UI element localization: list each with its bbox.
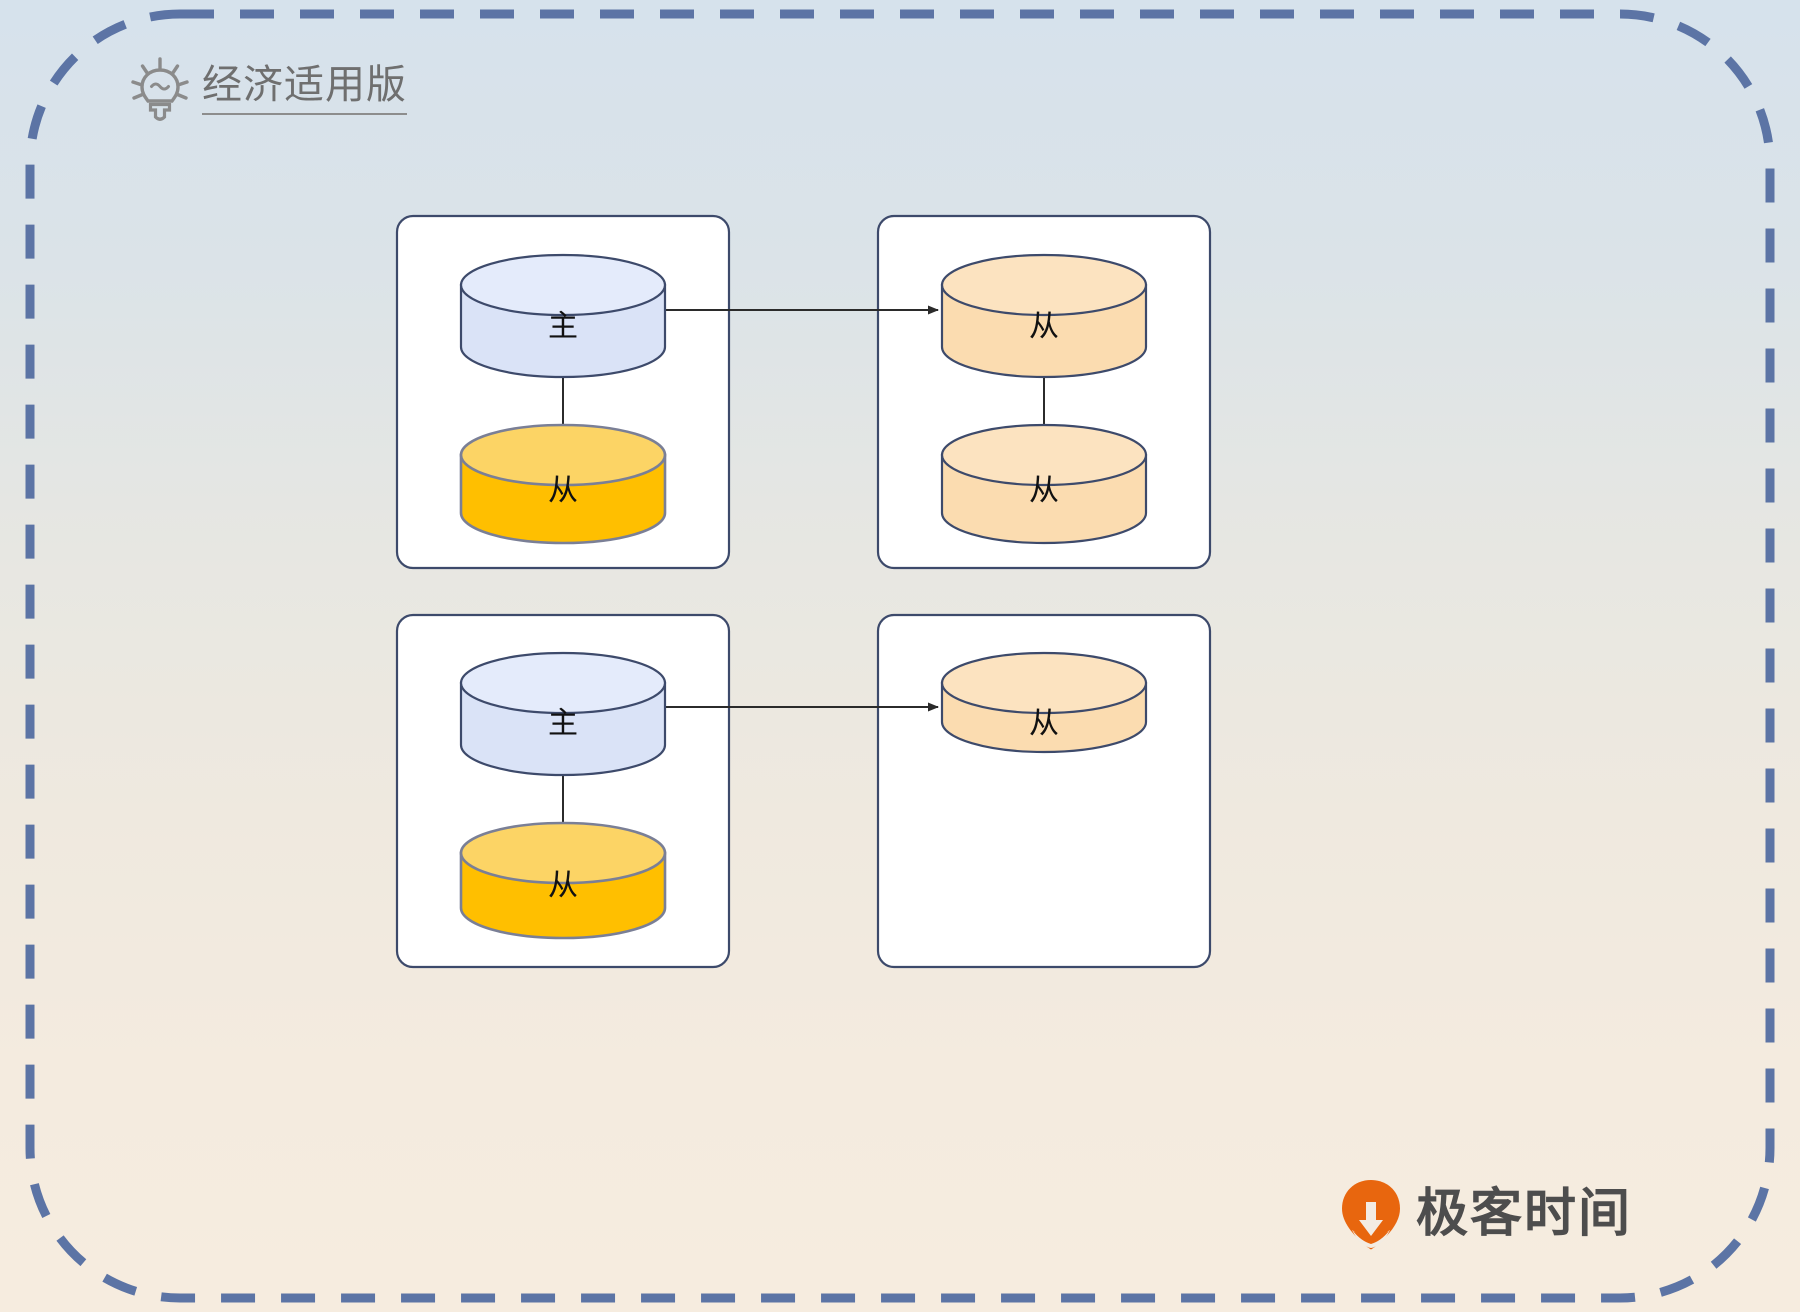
node-label: 主 bbox=[548, 310, 578, 343]
geektime-branding: 极客时间 bbox=[1338, 1178, 1632, 1250]
node-label: 从 bbox=[1029, 707, 1059, 740]
node-label: 从 bbox=[548, 869, 578, 902]
node-bl-replica[interactable]: 从 bbox=[461, 823, 665, 938]
node-label: 从 bbox=[1029, 310, 1059, 343]
diagram-canvas: 经济适用版 bbox=[0, 0, 1800, 1312]
geektime-logo-icon bbox=[1338, 1178, 1404, 1250]
node-tl-replica[interactable]: 从 bbox=[461, 425, 665, 543]
node-label: 从 bbox=[548, 474, 578, 507]
node-bl-primary[interactable]: 主 bbox=[461, 653, 665, 775]
node-tl-primary[interactable]: 主 bbox=[461, 255, 665, 377]
node-label: 从 bbox=[1029, 474, 1059, 507]
node-tr-replica-1[interactable]: 从 bbox=[942, 255, 1146, 377]
node-tr-replica-2[interactable]: 从 bbox=[942, 425, 1146, 543]
node-label: 主 bbox=[548, 707, 578, 740]
node-br-replica-1[interactable]: 从 bbox=[942, 653, 1146, 752]
geektime-wordmark: 极客时间 bbox=[1416, 1188, 1632, 1240]
replication-diagram: 主 从 从 从 主 从 bbox=[0, 0, 1800, 1312]
